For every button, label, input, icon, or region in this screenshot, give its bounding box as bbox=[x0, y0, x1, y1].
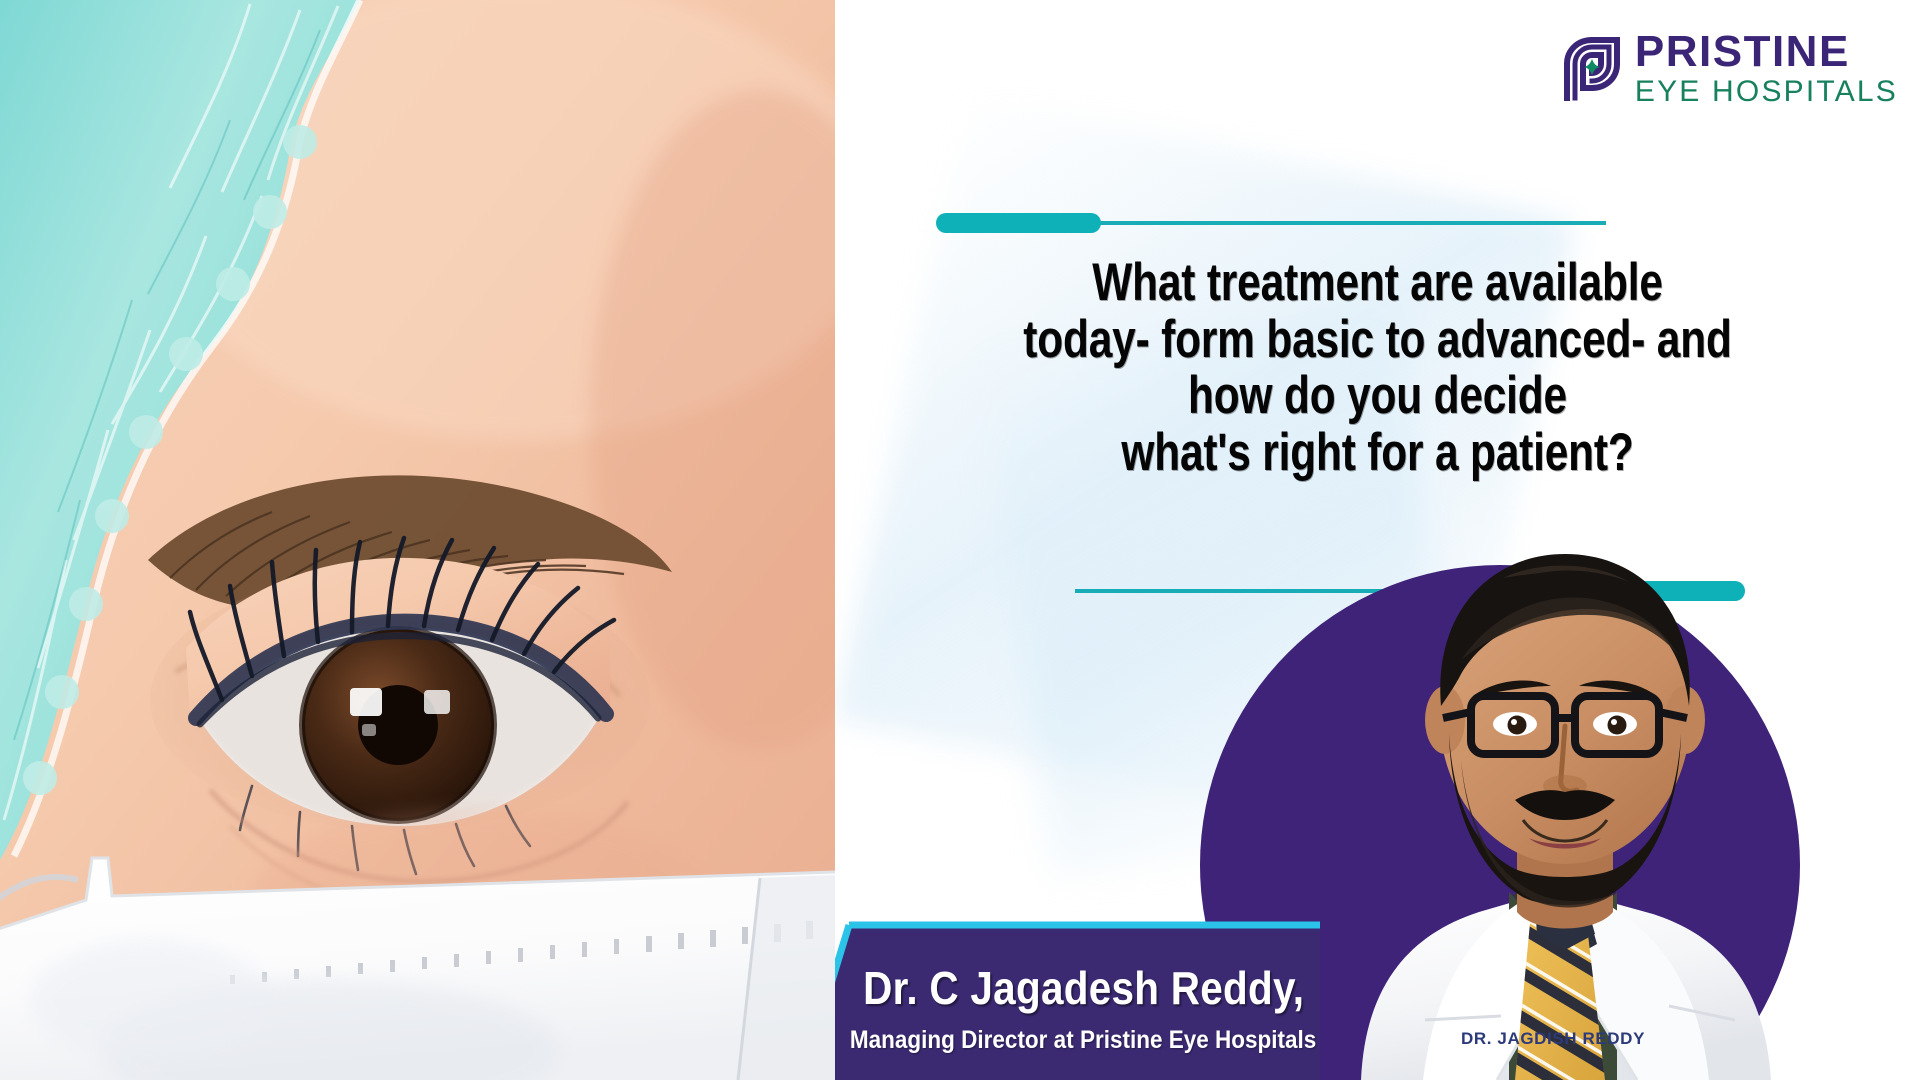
coat-embroidery-text: DR. JAGDISH REDDY bbox=[1461, 1029, 1645, 1048]
decor-pill-top bbox=[936, 213, 1101, 233]
decor-thin-line-top bbox=[1096, 221, 1606, 225]
decor-rule-top bbox=[936, 210, 1606, 236]
page-title: What treatment are available today- form… bbox=[944, 255, 1812, 482]
content-panel: PRISTINE EYE HOSPITALS What treatment ar… bbox=[835, 0, 1920, 1080]
speaker-name-banner: Dr. C Jagadesh Reddy, Managing Director … bbox=[835, 919, 1320, 1080]
pristine-spiral-eye-mark-icon bbox=[1561, 36, 1623, 102]
speaker-name: Dr. C Jagadesh Reddy, bbox=[863, 965, 1304, 1011]
patient-eye-photo bbox=[0, 0, 835, 1080]
doctor-portrait: DR. JAGDISH REDDY bbox=[1265, 520, 1865, 1080]
speaker-role: Managing Director at Pristine Eye Hospit… bbox=[850, 1028, 1316, 1053]
logo-secondary-text: EYE HOSPITALS bbox=[1635, 77, 1898, 107]
logo-primary-text: PRISTINE bbox=[1635, 30, 1898, 74]
patient-eye-illustration bbox=[0, 0, 835, 1080]
speaker-banner-text: Dr. C Jagadesh Reddy, Managing Director … bbox=[835, 919, 1320, 1080]
pristine-logo[interactable]: PRISTINE EYE HOSPITALS bbox=[1561, 30, 1898, 107]
logo-wordmark: PRISTINE EYE HOSPITALS bbox=[1635, 30, 1898, 107]
slide-canvas: PRISTINE EYE HOSPITALS What treatment ar… bbox=[0, 0, 1920, 1080]
